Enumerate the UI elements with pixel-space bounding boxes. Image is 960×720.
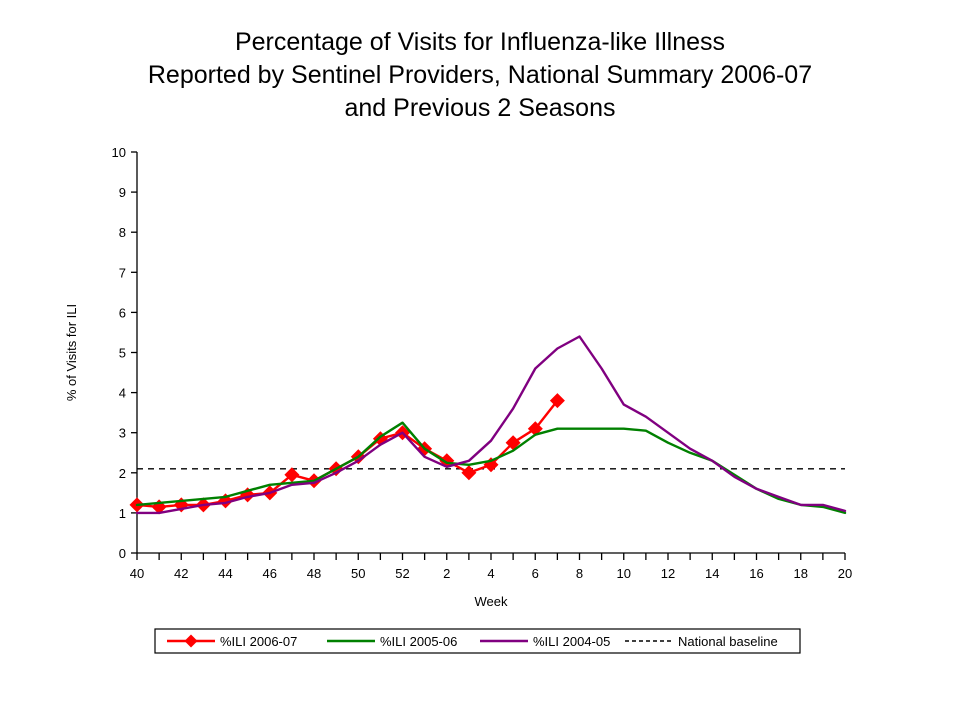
series-marker [461,465,476,480]
axis-labels-layer: 0123456789104042444648505224681012141618… [64,145,852,609]
legend-label-4: National baseline [678,634,778,649]
x-tick-label: 10 [617,566,631,581]
y-axis-title: % of Visits for ILI [64,304,79,401]
x-tick-label: 12 [661,566,675,581]
x-tick-label: 16 [749,566,763,581]
x-tick-label: 14 [705,566,719,581]
x-axis-title: Week [475,594,508,609]
x-tick-label: 52 [395,566,409,581]
chart-page: Percentage of Visits for Influenza-like … [0,0,960,720]
legend-label-1: %ILI 2006-07 [220,634,297,649]
x-tick-label: 18 [794,566,808,581]
legend-label-2: %ILI 2005-06 [380,634,457,649]
series-line-3 [137,337,845,513]
x-tick-label: 6 [532,566,539,581]
x-tick-label: 46 [263,566,277,581]
y-tick-label: 7 [119,265,126,280]
y-tick-label: 0 [119,546,126,561]
x-tick-label: 2 [443,566,450,581]
y-tick-label: 9 [119,185,126,200]
y-tick-label: 1 [119,506,126,521]
y-tick-label: 5 [119,346,126,361]
legend-label-3: %ILI 2004-05 [533,634,610,649]
y-tick-label: 3 [119,426,126,441]
x-tick-label: 20 [838,566,852,581]
y-tick-label: 2 [119,466,126,481]
x-tick-label: 48 [307,566,321,581]
chart-legend: %ILI 2006-07%ILI 2005-06%ILI 2004-05Nati… [155,629,800,653]
series-layer [130,337,846,515]
series-line-1 [137,401,557,507]
y-tick-label: 10 [112,145,126,160]
y-tick-label: 8 [119,225,126,240]
x-tick-label: 50 [351,566,365,581]
x-tick-label: 8 [576,566,583,581]
x-tick-label: 4 [487,566,494,581]
y-tick-label: 6 [119,305,126,320]
x-tick-label: 40 [130,566,144,581]
ili-line-chart: 0123456789104042444648505224681012141618… [0,0,960,720]
x-tick-label: 44 [218,566,232,581]
y-tick-label: 4 [119,386,126,401]
x-tick-label: 42 [174,566,188,581]
